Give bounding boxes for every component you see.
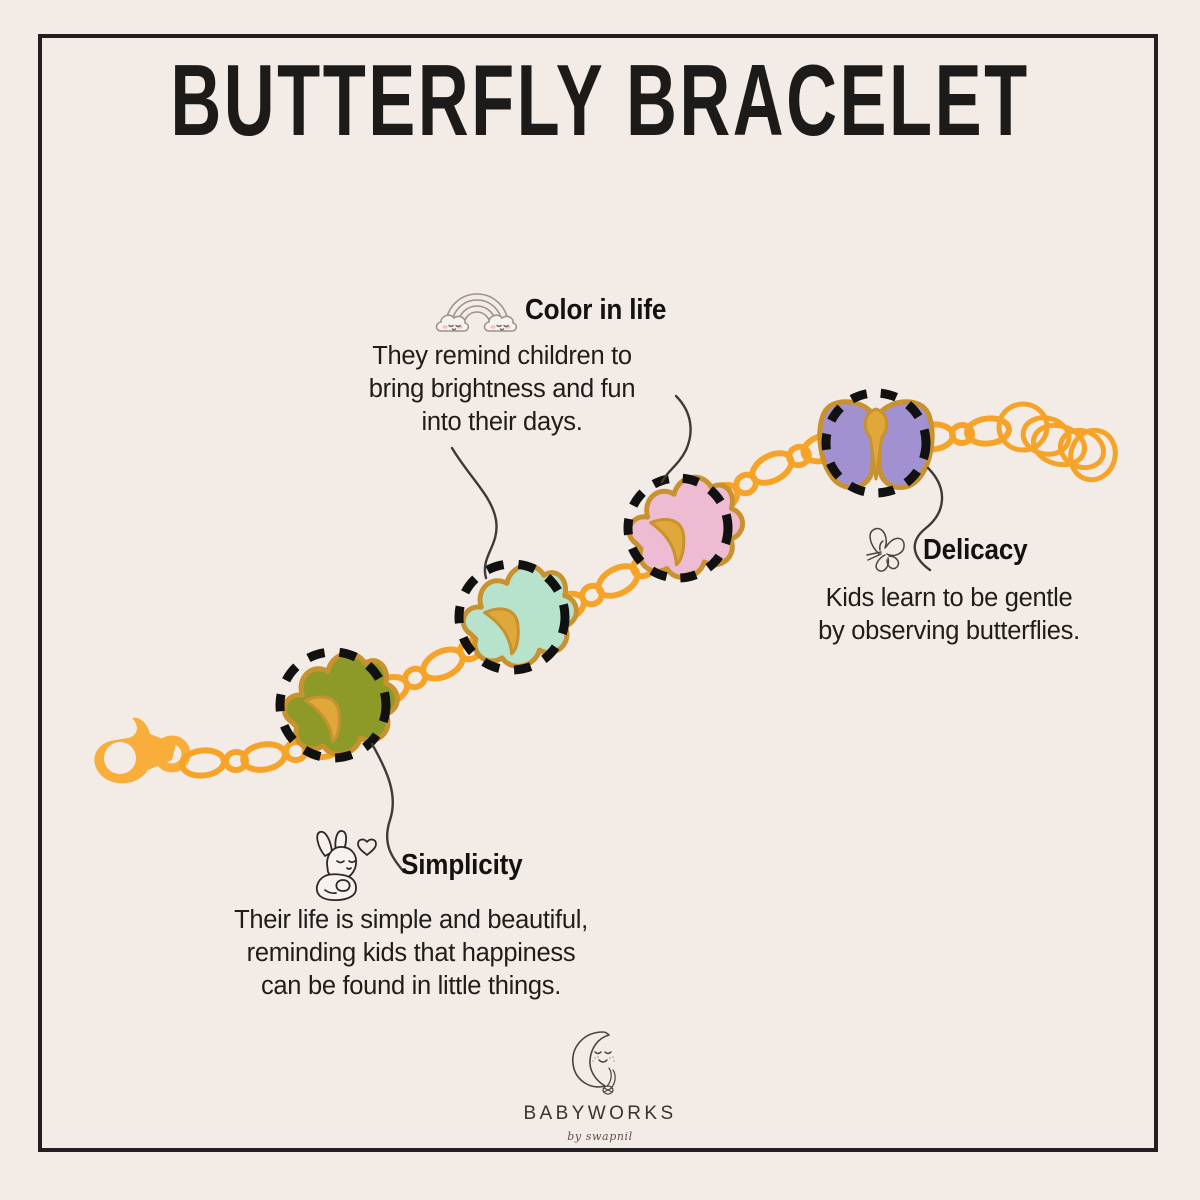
callout-delicacy: Delicacy Kids learn to be gentle by obse… — [794, 522, 1104, 648]
callout-body: Kids learn to be gentle by observing but… — [794, 582, 1104, 648]
callout-simplicity: Simplicity Their life is simple and beau… — [196, 828, 626, 1003]
callout-heading: Color in life — [525, 294, 666, 327]
brand-wordmark: BABYWORKS — [0, 1103, 1200, 1125]
callout-color-in-life: Color in life They remind children to br… — [316, 282, 688, 439]
callout-heading: Simplicity — [401, 849, 523, 882]
brand-tagline: by swapnil — [0, 1130, 1200, 1143]
infographic-poster: BUTTERFLY BRACELET — [0, 0, 1200, 1200]
bunny-heart-icon — [309, 828, 391, 902]
butterfly-line-icon — [859, 524, 915, 576]
lobster-clasp — [94, 718, 186, 784]
rainbow-clouds-icon — [435, 285, 519, 335]
callout-body: Their life is simple and beautiful, remi… — [196, 904, 626, 1003]
crescent-moon-face-logo — [557, 1083, 643, 1100]
callout-body: They remind children to bring brightness… — [316, 340, 688, 439]
extender-rings — [999, 404, 1122, 486]
connector-color-in-life — [452, 448, 497, 578]
callout-heading: Delicacy — [923, 534, 1027, 567]
brand-logo-block: BABYWORKS by swapnil — [0, 1028, 1200, 1143]
